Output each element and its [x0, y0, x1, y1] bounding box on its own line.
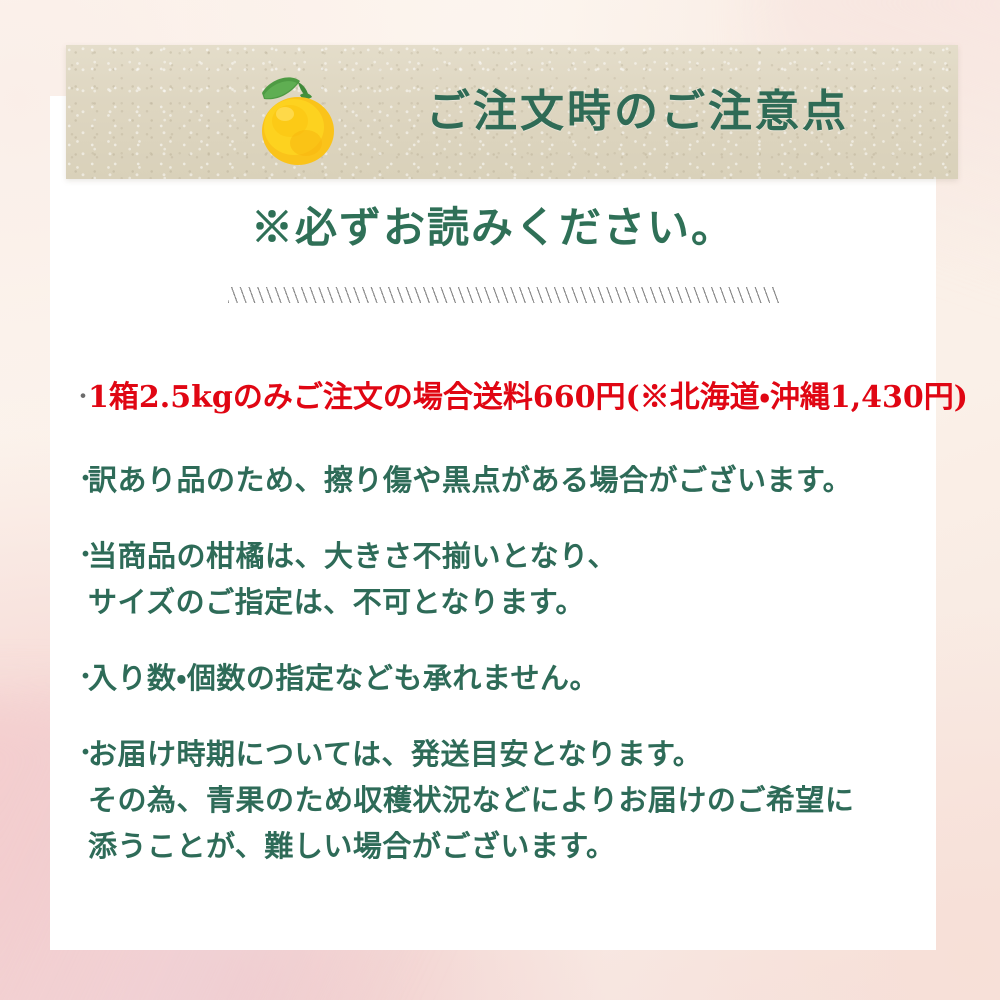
bullet-icon: ・ — [72, 731, 88, 777]
notice-line: 入り数・個数の指定なども承れません。 — [88, 655, 942, 701]
notice-line: サイズのご指定は、不可となります。 — [88, 579, 942, 625]
notice-item: ・当商品の柑橘は、大きさ不揃いとなり、サイズのご指定は、不可となります。 — [72, 533, 942, 625]
notice-line: 添うことが、難しい場合がございます。 — [88, 823, 942, 869]
notice-line: 1箱2.5kgのみご注文の場合送料660円(※北海道・沖縄1,430円) — [88, 375, 968, 421]
bullet-icon: ・ — [72, 375, 88, 421]
page-title: ご注文時のご注意点 — [426, 45, 849, 179]
bullet-icon: ・ — [72, 457, 88, 503]
hatched-divider — [228, 287, 780, 303]
notice-text: 訳あり品のため、擦り傷や黒点がある場合がございます。 — [88, 457, 942, 503]
notice-item: ・入り数・個数の指定なども承れません。 — [72, 655, 942, 701]
notice-list: ・1箱2.5kgのみご注文の場合送料660円(※北海道・沖縄1,430円)・訳あ… — [72, 375, 942, 869]
notice-text: 1箱2.5kgのみご注文の場合送料660円(※北海道・沖縄1,430円) — [88, 375, 968, 421]
mandarin-orange-icon — [238, 59, 356, 171]
notice-text: お届け時期については、発送目安となります。その為、青果のため収穫状況などによりお… — [88, 731, 942, 869]
notice-line: 訳あり品のため、擦り傷や黒点がある場合がございます。 — [88, 457, 942, 503]
notice-item: ・1箱2.5kgのみご注文の場合送料660円(※北海道・沖縄1,430円) — [72, 375, 942, 421]
notice-item: ・訳あり品のため、擦り傷や黒点がある場合がございます。 — [72, 457, 942, 503]
notice-text: 入り数・個数の指定なども承れません。 — [88, 655, 942, 701]
notice-line: お届け時期については、発送目安となります。 — [88, 731, 942, 777]
notice-item: ・お届け時期については、発送目安となります。その為、青果のため収穫状況などにより… — [72, 731, 942, 869]
notice-text: 当商品の柑橘は、大きさ不揃いとなり、サイズのご指定は、不可となります。 — [88, 533, 942, 625]
subtitle-must-read: ※必ずお読みください。 — [50, 205, 936, 251]
notice-line: 当商品の柑橘は、大きさ不揃いとなり、 — [88, 533, 942, 579]
bullet-icon: ・ — [72, 655, 88, 701]
header-banner: ご注文時のご注意点 — [66, 45, 958, 179]
notice-line: その為、青果のため収穫状況などによりお届けのご希望に — [88, 777, 942, 823]
bullet-icon: ・ — [72, 533, 88, 579]
notice-page: ご注文時のご注意点 ※必ずお読みください。 ・1箱2.5kgのみご注文の場合送料… — [0, 0, 1000, 1000]
